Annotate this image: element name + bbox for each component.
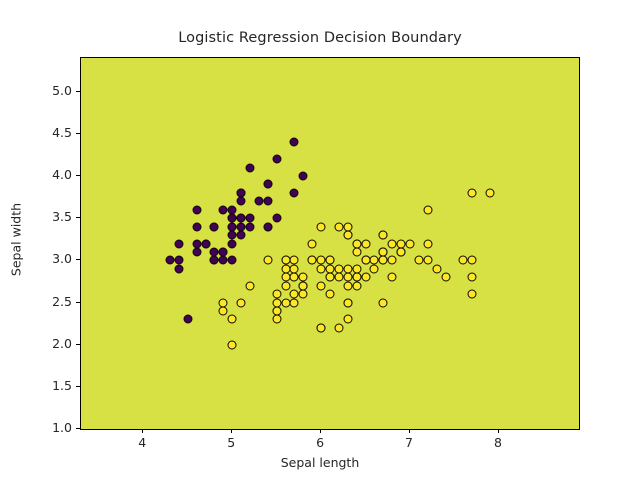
scatter-point [174,239,183,248]
scatter-point [468,273,477,282]
y-tick-label: 4.5 [32,125,72,140]
scatter-point [343,231,352,240]
scatter-point [228,340,237,349]
scatter-point [219,306,228,315]
scatter-point [174,256,183,265]
scatter-point [174,264,183,273]
scatter-point [361,239,370,248]
scatter-point [245,281,254,290]
scatter-point [245,163,254,172]
scatter-point [281,281,290,290]
scatter-point [423,239,432,248]
scatter-point [237,298,246,307]
scatter-point [210,256,219,265]
scatter-point [201,239,210,248]
scatter-point [370,256,379,265]
scatter-point [317,222,326,231]
scatter-point [326,256,335,265]
scatter-point [219,205,228,214]
x-axis-label: Sepal length [0,455,640,470]
scatter-point [228,315,237,324]
scatter-point [397,247,406,256]
scatter-point [326,273,335,282]
y-tick-mark [76,302,80,303]
scatter-point [352,247,361,256]
scatter-point [361,273,370,282]
scatter-point [334,273,343,282]
scatter-point [290,273,299,282]
y-tick-mark [76,344,80,345]
scatter-point [486,188,495,197]
y-tick-label: 3.0 [32,251,72,266]
y-tick-mark [76,175,80,176]
scatter-point [441,273,450,282]
y-tick-label: 3.5 [32,209,72,224]
scatter-point [343,281,352,290]
scatter-point [326,290,335,299]
scatter-point [228,214,237,223]
y-tick-label: 1.0 [32,420,72,435]
x-tick-label: 4 [122,435,162,450]
scatter-point [414,256,423,265]
scatter-point [352,273,361,282]
y-tick-mark [76,133,80,134]
scatter-point [192,222,201,231]
scatter-point [228,231,237,240]
scatter-point [290,188,299,197]
scatter-point [423,256,432,265]
scatter-point [334,222,343,231]
scatter-point [317,256,326,265]
scatter-point [432,264,441,273]
scatter-point [237,197,246,206]
scatter-point [379,298,388,307]
scatter-point [343,298,352,307]
scatter-point [290,298,299,307]
x-tick-label: 7 [389,435,429,450]
y-tick-mark [76,259,80,260]
scatter-point [334,323,343,332]
scatter-point [210,222,219,231]
scatter-point [343,315,352,324]
scatter-point [290,138,299,147]
scatter-point [361,256,370,265]
scatter-point [192,239,201,248]
x-tick-label: 8 [478,435,518,450]
scatter-point [308,256,317,265]
scatter-point [388,273,397,282]
scatter-point [228,256,237,265]
scatter-point [245,222,254,231]
plot-area [80,57,580,430]
scatter-point [468,290,477,299]
scatter-point [468,256,477,265]
scatter-point [352,281,361,290]
scatter-point [406,239,415,248]
y-tick-label: 2.5 [32,294,72,309]
scatter-point [192,247,201,256]
y-axis-label: Sepal width [9,120,24,360]
scatter-point [308,239,317,248]
x-tick-mark [320,429,321,433]
y-tick-mark [76,217,80,218]
x-tick-mark [409,429,410,433]
x-tick-mark [231,429,232,433]
scatter-point [281,256,290,265]
scatter-point [263,197,272,206]
scatter-point [343,273,352,282]
scatter-point [379,256,388,265]
y-tick-mark [76,91,80,92]
scatter-point [219,256,228,265]
figure-canvas: Logistic Regression Decision Boundary 45… [0,0,640,480]
scatter-point [388,256,397,265]
scatter-point [237,231,246,240]
x-tick-label: 5 [211,435,251,450]
scatter-point [272,290,281,299]
scatter-point [219,298,228,307]
class-1-region [81,58,579,429]
scatter-point [192,205,201,214]
scatter-point [219,247,228,256]
y-tick-label: 1.5 [32,378,72,393]
scatter-point [272,214,281,223]
scatter-point [263,256,272,265]
scatter-point [237,222,246,231]
scatter-point [370,264,379,273]
scatter-point [228,239,237,248]
x-tick-mark [142,429,143,433]
scatter-point [281,298,290,307]
scatter-point [317,264,326,273]
scatter-point [272,315,281,324]
y-tick-mark [76,386,80,387]
scatter-point [317,281,326,290]
scatter-point [272,155,281,164]
scatter-point [388,239,397,248]
scatter-point [237,188,246,197]
chart-title: Logistic Regression Decision Boundary [0,30,640,46]
scatter-point [459,256,468,265]
x-tick-label: 6 [300,435,340,450]
scatter-point [254,197,263,206]
y-tick-label: 4.0 [32,167,72,182]
scatter-point [263,222,272,231]
scatter-point [317,323,326,332]
scatter-point [272,306,281,315]
scatter-point [263,180,272,189]
scatter-point [165,256,174,265]
scatter-point [379,231,388,240]
scatter-point [281,273,290,282]
y-tick-label: 2.0 [32,336,72,351]
scatter-point [468,188,477,197]
scatter-point [299,281,308,290]
scatter-point [272,298,281,307]
scatter-point [183,315,192,324]
x-tick-mark [498,429,499,433]
y-tick-label: 5.0 [32,83,72,98]
scatter-point [299,290,308,299]
y-tick-mark [76,428,80,429]
scatter-point [343,222,352,231]
scatter-point [423,205,432,214]
scatter-point [299,172,308,181]
